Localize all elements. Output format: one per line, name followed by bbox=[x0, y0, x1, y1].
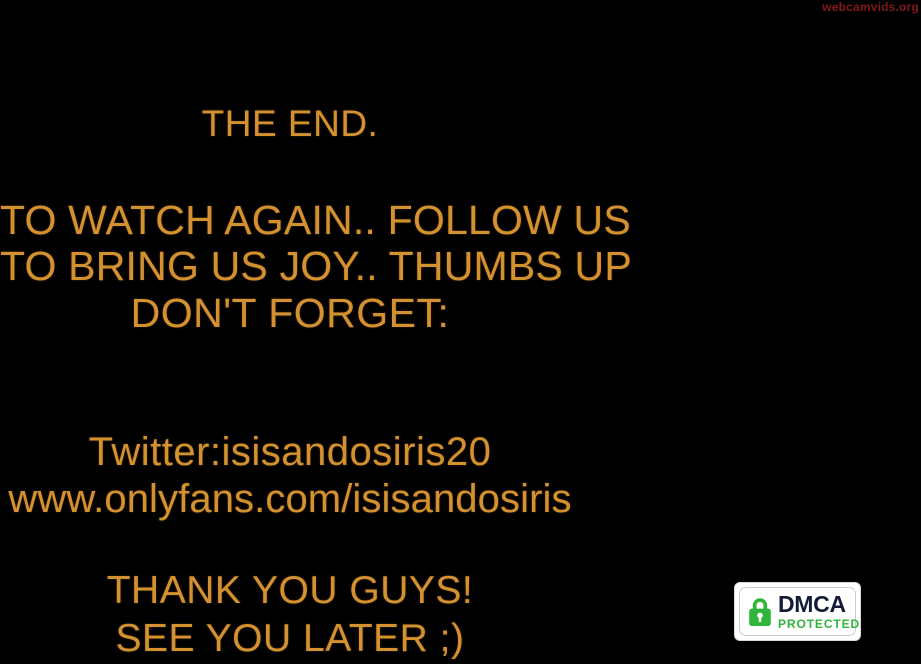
outro-line-watch-again: TO WATCH AGAIN.. FOLLOW US bbox=[0, 197, 580, 244]
dmca-badge-inner: DMCA PROTECTED bbox=[739, 587, 856, 636]
video-outro-screen: webcamvids.org THE END. TO WATCH AGAIN..… bbox=[0, 0, 921, 664]
outro-line-onlyfans-url: www.onlyfans.com/isisandosiris bbox=[0, 477, 580, 522]
outro-line-the-end: THE END. bbox=[0, 103, 580, 145]
outro-line-thank-you: THANK YOU GUYS! bbox=[0, 569, 580, 613]
outro-line-bring-us-joy: TO BRING US JOY.. THUMBS UP bbox=[0, 243, 580, 290]
dmca-subtitle: PROTECTED bbox=[778, 618, 860, 630]
site-watermark: webcamvids.org bbox=[822, 0, 919, 14]
dmca-protected-badge[interactable]: DMCA PROTECTED bbox=[735, 583, 860, 640]
dmca-badge-text: DMCA PROTECTED bbox=[778, 593, 860, 630]
outro-line-twitter-handle: Twitter:isisandosiris20 bbox=[0, 430, 580, 475]
outro-line-dont-forget: DON'T FORGET: bbox=[0, 290, 580, 337]
outro-line-see-you-later: SEE YOU LATER ;) bbox=[0, 617, 580, 661]
dmca-title: DMCA bbox=[778, 593, 860, 616]
outro-text-block: THE END. TO WATCH AGAIN.. FOLLOW US TO B… bbox=[0, 0, 580, 664]
padlock-icon bbox=[747, 596, 773, 628]
